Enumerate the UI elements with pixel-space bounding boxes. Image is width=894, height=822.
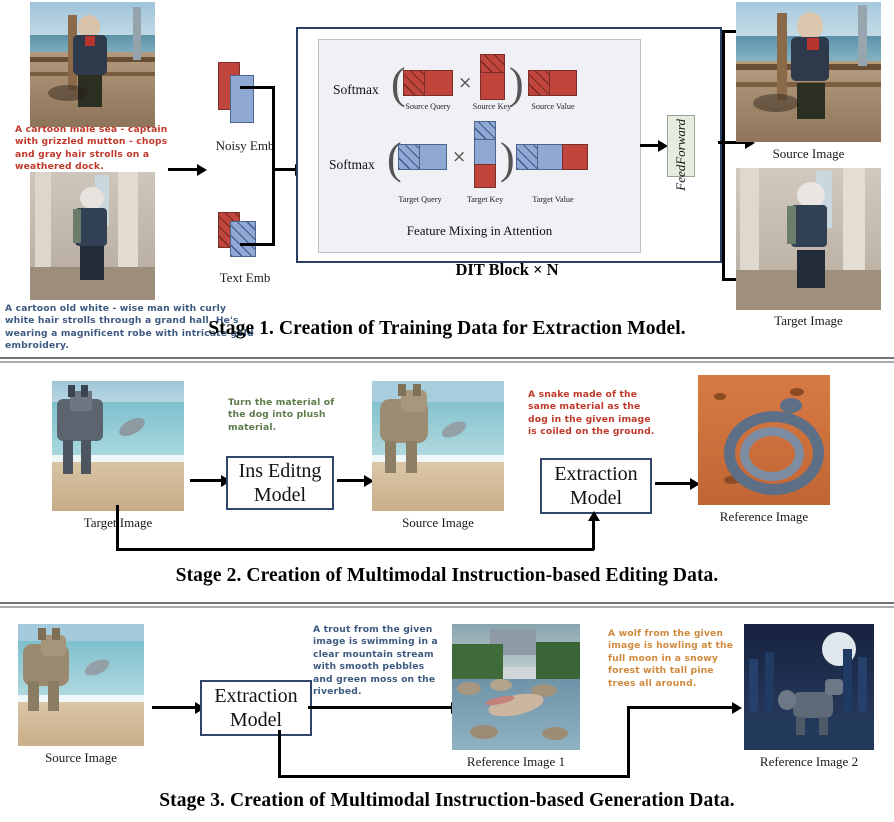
- emb-bus-bottom: [240, 243, 274, 246]
- noisy-emb-label: Noisy Emb: [200, 138, 290, 154]
- stage2-source-image: [372, 381, 504, 511]
- ins-editing-model-line1: Ins Editng: [239, 459, 322, 483]
- stage2-feedback-vertical-left: [116, 505, 119, 551]
- ins-editing-model-box: Ins Editng Model: [226, 456, 334, 510]
- target-paren-close: ): [500, 137, 515, 181]
- source-query-matrix: [403, 70, 425, 96]
- stage2-target-image: [52, 381, 184, 511]
- feedforward-label: FeedForward: [673, 119, 689, 191]
- arrow-ins-model-to-source: [337, 479, 365, 482]
- source-key-matrix: [480, 54, 505, 73]
- source-query-label: Source Query: [393, 102, 463, 111]
- stage3-reference2-caption: Reference Image 2: [744, 754, 874, 770]
- stage3-feedback-horizontal: [278, 775, 630, 778]
- target-key-matrix-b: [474, 139, 496, 165]
- stage3-feedback-vertical: [278, 730, 281, 778]
- stage3-extraction-line1: Extraction: [214, 684, 297, 708]
- target-key-matrix: [474, 121, 496, 140]
- target-times-symbol: ×: [452, 147, 466, 167]
- attention-panel: Softmax ( × ) Source Query Source Key So…: [318, 39, 641, 253]
- stage3-extraction-line2: Model: [230, 708, 282, 732]
- stage2-reference-image: [698, 375, 830, 505]
- stage-3-title: Stage 3. Creation of Multimodal Instruct…: [0, 790, 894, 812]
- stage-1-section: A cartoon male sea - captain with grizzl…: [0, 0, 894, 358]
- source-value-label: Source Value: [519, 102, 587, 111]
- stage1-target-image: [30, 172, 155, 300]
- emb-bus-top: [240, 86, 274, 89]
- target-value-matrix-c: [562, 144, 588, 170]
- stage3-reference1-caption: Reference Image 1: [452, 754, 580, 770]
- source-times-symbol: ×: [458, 73, 472, 93]
- stage3-reference-image-2: [744, 624, 874, 750]
- arrow-extraction-to-reference: [655, 482, 691, 485]
- ins-editing-model-line2: Model: [254, 483, 306, 507]
- target-key-label: Target Key: [453, 195, 517, 204]
- target-value-matrix: [516, 144, 538, 170]
- feature-mixing-caption: Feature Mixing in Attention: [319, 223, 640, 239]
- arrow-attn-to-ff: [640, 144, 659, 147]
- source-value-matrix-b: [549, 70, 577, 96]
- stage2-edit-instruction: Turn the material of the dog into plush …: [228, 397, 348, 434]
- stage2-source-caption: Source Image: [372, 515, 504, 531]
- softmax-source-label: Softmax: [333, 82, 379, 98]
- noisy-emb-blue-card: [230, 75, 254, 123]
- stage3-source-caption: Source Image: [18, 750, 144, 766]
- stage1-source-prompt: A cartoon male sea - captain with grizzl…: [15, 124, 175, 174]
- target-query-matrix: [398, 144, 420, 170]
- stage3-feedback-riser: [627, 706, 630, 776]
- wolf-body: [793, 692, 833, 718]
- arrow-target-to-ins-model: [190, 479, 222, 482]
- softmax-target-label: Softmax: [329, 157, 375, 173]
- stage1-source-caption: Source Image: [736, 146, 881, 162]
- stage2-extraction-model-box: Extraction Model: [540, 458, 652, 514]
- stage-3-section: Source Image Extraction Model A trout fr…: [0, 610, 894, 822]
- source-paren-close: ): [509, 62, 524, 106]
- output-bus-vertical: [722, 30, 725, 280]
- target-value-label: Target Value: [517, 195, 589, 204]
- stage3-instruction-1: A trout from the given image is swimming…: [313, 624, 443, 698]
- emb-bus-vertical: [272, 86, 275, 246]
- feedforward-box: FeedForward: [667, 115, 695, 177]
- separator-2: [0, 602, 894, 609]
- target-query-matrix-b: [419, 144, 447, 170]
- target-query-label: Target Query: [385, 195, 455, 204]
- stage-2-section: Target Image Turn the material of the do…: [0, 365, 894, 595]
- stage3-extraction-model-box: Extraction Model: [200, 680, 312, 736]
- source-key-matrix-b: [480, 72, 505, 100]
- stage3-source-image: [18, 624, 144, 746]
- dit-block: Softmax ( × ) Source Query Source Key So…: [296, 27, 722, 263]
- source-query-matrix-b: [424, 70, 453, 96]
- text-emb-blue-card: [230, 221, 256, 257]
- target-key-matrix-c: [474, 164, 496, 188]
- separator-1: [0, 357, 894, 364]
- stage3-reference-image-1: [452, 624, 580, 750]
- target-value-matrix-b: [537, 144, 563, 170]
- stage2-extraction-instruction: A snake made of the same material as the…: [528, 389, 656, 439]
- snake-coil-inner: [740, 427, 804, 481]
- source-key-label: Source Key: [459, 102, 525, 111]
- stage-1-title: Stage 1. Creation of Training Data for E…: [0, 318, 894, 340]
- dit-block-label: DIT Block × N: [296, 260, 718, 280]
- arrow-extraction-to-ref1: [438, 706, 452, 709]
- text-emb-label: Text Emb: [200, 270, 290, 286]
- source-value-matrix: [528, 70, 550, 96]
- arrow-source-to-extraction: [152, 706, 196, 709]
- arrow-prompts-to-emb: [168, 168, 198, 171]
- stage-2-title: Stage 2. Creation of Multimodal Instruct…: [0, 565, 894, 587]
- figure-root: A cartoon male sea - captain with grizzl…: [0, 0, 894, 822]
- stage2-reference-caption: Reference Image: [698, 509, 830, 525]
- stage1-output-source-image: [736, 2, 881, 142]
- stage3-instruction-2: A wolf from the given image is howling a…: [608, 628, 740, 690]
- stage2-extraction-line2: Model: [570, 486, 622, 510]
- arrow-extraction-to-ref1-line: [308, 706, 450, 709]
- stage2-feedback-horizontal: [116, 548, 594, 551]
- stage2-feedback-arrow-up: [592, 520, 595, 550]
- stage2-extraction-line1: Extraction: [554, 462, 637, 486]
- stage1-source-image: [30, 2, 155, 127]
- arrow-emb-to-dit: [272, 168, 296, 171]
- stage1-output-target-image: [736, 168, 881, 310]
- stage3-feedback-arrow: [627, 706, 733, 709]
